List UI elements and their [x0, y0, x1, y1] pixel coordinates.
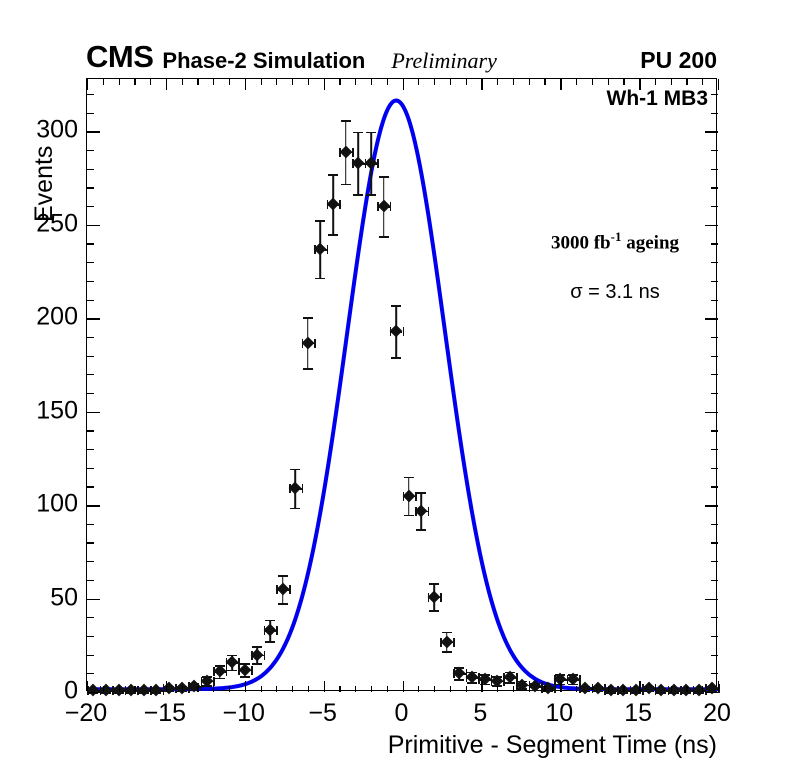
x-major-tick-top — [481, 79, 482, 90]
error-bar-horizontal — [529, 686, 542, 688]
x-minor-tick — [513, 686, 514, 692]
error-bar-horizontal — [377, 206, 390, 208]
error-bar-horizontal — [604, 690, 617, 692]
x-major-tick-top — [324, 79, 325, 90]
error-bar-vertical — [383, 176, 385, 236]
data-marker — [112, 684, 125, 697]
error-bar-cap-horizontal — [630, 686, 632, 695]
data-marker — [125, 684, 138, 697]
x-minor-tick-top — [261, 79, 262, 85]
error-bar-cap — [631, 688, 641, 690]
error-bar-cap-horizontal — [137, 686, 139, 695]
error-bar-horizontal — [314, 249, 327, 251]
cms-status-text: Preliminary — [391, 49, 497, 72]
error-bar-cap — [315, 220, 325, 222]
error-bar-cap-horizontal — [503, 673, 505, 682]
y-minor-tick-right — [711, 430, 718, 431]
error-bar-cap — [555, 674, 565, 676]
error-bar-cap-horizontal — [440, 593, 442, 602]
error-bar-cap-horizontal — [314, 245, 316, 254]
x-minor-tick — [702, 686, 703, 692]
y-tick-label: 50 — [14, 583, 78, 612]
error-bar-cap-horizontal — [327, 200, 329, 209]
data-marker — [630, 684, 643, 697]
y-minor-tick-right — [711, 393, 718, 394]
error-bar-cap-horizontal — [693, 686, 695, 695]
data-marker — [554, 673, 567, 686]
error-bar-vertical — [421, 492, 423, 529]
x-minor-tick — [182, 686, 183, 692]
error-bar-horizontal — [693, 690, 706, 692]
error-bar-horizontal — [491, 681, 504, 683]
error-bar-cap-horizontal — [377, 159, 379, 168]
x-minor-tick-top — [119, 79, 120, 85]
error-bar-cap-horizontal — [365, 159, 367, 168]
error-bar-vertical — [534, 683, 536, 689]
error-bar-cap-horizontal — [100, 686, 102, 695]
error-bar-cap — [681, 692, 691, 694]
error-bar-horizontal — [327, 204, 340, 206]
error-bar-horizontal — [503, 677, 516, 679]
error-bar-cap-horizontal — [238, 666, 240, 675]
error-bar-vertical — [408, 477, 410, 515]
y-minor-tick — [87, 542, 94, 543]
fit-curve-layer — [87, 79, 718, 692]
y-major-tick-right — [705, 225, 718, 226]
error-bar-cap-horizontal — [567, 675, 569, 684]
error-bar-cap — [593, 686, 603, 688]
x-minor-tick — [276, 686, 277, 692]
error-bar-cap-horizontal — [163, 686, 165, 695]
data-marker — [693, 684, 706, 697]
y-minor-tick — [87, 655, 94, 656]
error-bar-cap-horizontal — [693, 686, 695, 695]
y-major-tick — [87, 225, 100, 226]
error-bar-cap-horizontal — [289, 585, 291, 594]
error-bar-cap-horizontal — [264, 651, 266, 660]
error-bar-cap — [177, 686, 187, 688]
y-major-tick — [87, 131, 100, 132]
error-bar-cap-horizontal — [125, 686, 127, 695]
x-tick-label: −15 — [144, 699, 186, 728]
error-bar-cap-horizontal — [592, 684, 594, 693]
error-bar-vertical — [496, 676, 498, 685]
error-bar-cap-horizontal — [125, 686, 127, 695]
error-bar-cap-horizontal — [302, 484, 304, 493]
y-minor-tick — [87, 617, 94, 618]
error-bar-cap — [492, 676, 502, 678]
data-marker — [264, 624, 277, 637]
y-axis-title: Events — [30, 146, 59, 222]
error-bar-cap-horizontal — [428, 507, 430, 516]
error-bar-cap-horizontal — [617, 686, 619, 695]
error-bar-cap — [151, 692, 161, 694]
error-bar-cap — [505, 682, 515, 684]
y-minor-tick — [87, 430, 94, 431]
x-tick-label: 0 — [395, 699, 409, 728]
error-bar-vertical — [118, 688, 120, 692]
y-minor-tick-right — [711, 356, 718, 357]
error-bar-cap-horizontal — [390, 202, 392, 211]
error-bar-cap-horizontal — [428, 593, 430, 602]
error-bar-cap — [126, 688, 136, 690]
x-minor-tick-top — [655, 79, 656, 85]
x-major-tick — [481, 681, 482, 692]
error-bar-vertical — [509, 672, 511, 682]
x-tick-label: 10 — [545, 699, 573, 728]
error-bar-vertical — [193, 683, 195, 689]
error-bar-cap — [681, 688, 691, 690]
error-bar-horizontal — [390, 331, 403, 333]
y-minor-tick — [87, 187, 94, 188]
y-major-tick — [87, 599, 100, 600]
cms-subtitle-text: Phase-2 Simulation — [162, 49, 365, 72]
error-bar-vertical — [458, 667, 460, 679]
cms-header: CMS Phase-2 Simulation Preliminary PU 20… — [86, 38, 717, 72]
x-minor-tick-top — [418, 79, 419, 85]
data-marker — [201, 674, 214, 687]
error-bar-cap — [656, 688, 666, 690]
x-minor-tick-top — [702, 79, 703, 85]
error-bar-cap — [341, 120, 351, 122]
error-bar-cap-horizontal — [175, 684, 177, 693]
error-bar-cap-horizontal — [390, 327, 392, 336]
error-bar-cap — [505, 672, 515, 674]
data-marker — [163, 682, 176, 695]
error-bar-horizontal — [541, 688, 554, 690]
error-bar-vertical — [635, 688, 637, 692]
x-major-tick — [403, 681, 404, 692]
error-bar-vertical — [547, 686, 549, 691]
data-marker — [604, 684, 617, 697]
error-bar-cap-horizontal — [251, 651, 253, 660]
data-marker — [529, 680, 542, 693]
error-bar-cap-horizontal — [516, 673, 518, 682]
y-minor-tick-right — [711, 580, 718, 581]
error-bar-cap-horizontal — [276, 585, 278, 594]
error-bar-cap-horizontal — [339, 148, 341, 157]
error-bar-vertical — [257, 646, 259, 663]
error-bar-cap-horizontal — [289, 484, 291, 493]
x-minor-tick — [529, 686, 530, 692]
x-minor-tick-top — [497, 79, 498, 85]
error-bar-cap-horizontal — [554, 684, 556, 693]
y-tick-label: 100 — [14, 490, 78, 519]
data-marker — [377, 200, 390, 213]
error-bar-vertical — [168, 686, 170, 691]
x-major-tick-top — [166, 79, 167, 90]
error-bar-cap — [139, 692, 149, 694]
error-bar-cap — [101, 688, 111, 690]
y-minor-tick-right — [711, 449, 718, 450]
x-major-tick — [718, 681, 719, 692]
error-bar-cap-horizontal — [516, 681, 518, 690]
error-bar-cap — [530, 683, 540, 685]
error-bar-cap — [467, 672, 477, 674]
x-minor-tick — [134, 686, 135, 692]
error-bar-cap — [290, 469, 300, 471]
error-bar-cap-horizontal — [453, 638, 455, 647]
error-bar-cap — [114, 688, 124, 690]
x-minor-tick — [103, 686, 104, 692]
x-minor-tick — [544, 686, 545, 692]
y-minor-tick — [87, 524, 94, 525]
x-minor-tick-top — [466, 79, 467, 85]
error-bar-cap — [227, 655, 237, 657]
x-minor-tick — [434, 686, 435, 692]
error-bar-cap-horizontal — [668, 686, 670, 695]
y-major-tick — [87, 318, 100, 319]
y-minor-tick — [87, 281, 94, 282]
x-minor-tick-top — [229, 79, 230, 85]
error-bar-cap — [707, 686, 717, 688]
y-minor-tick-right — [711, 655, 718, 656]
error-bar-cap — [366, 194, 376, 196]
y-tick-label: 150 — [14, 396, 78, 425]
error-bar-cap-horizontal — [201, 682, 203, 691]
x-minor-tick — [686, 686, 687, 692]
x-minor-tick — [592, 686, 593, 692]
data-marker — [289, 482, 302, 495]
x-major-tick — [245, 681, 246, 692]
error-bar-cap-horizontal — [403, 327, 405, 336]
error-bar-cap-horizontal — [352, 159, 354, 168]
sigma-annotation: σ = 3.1 ns — [505, 281, 725, 304]
error-bar-cap — [88, 688, 98, 690]
y-major-tick — [87, 692, 100, 693]
error-bar-vertical — [332, 174, 334, 235]
x-major-tick — [639, 681, 640, 692]
x-major-tick-top — [245, 79, 246, 90]
x-major-tick-top — [560, 79, 561, 90]
y-minor-tick — [87, 468, 94, 469]
y-major-tick-right — [705, 318, 718, 319]
x-minor-tick-top — [608, 79, 609, 85]
error-bar-vertical — [370, 132, 372, 195]
y-minor-tick-right — [711, 524, 718, 525]
data-marker — [150, 684, 163, 697]
error-bar-cap-horizontal — [579, 675, 581, 684]
y-minor-tick — [87, 113, 94, 114]
error-bar-cap — [517, 681, 527, 683]
error-bar-cap — [492, 685, 502, 687]
x-minor-tick-top — [308, 79, 309, 85]
error-bar-cap — [467, 682, 477, 684]
x-minor-tick — [119, 686, 120, 692]
x-minor-tick-top — [671, 79, 672, 85]
error-bar-horizontal — [112, 690, 125, 692]
luminosity-exponent: -1 — [611, 229, 622, 244]
data-marker — [516, 678, 529, 691]
error-bar-cap — [391, 305, 401, 307]
error-bar-cap — [303, 368, 313, 370]
error-bar-cap-horizontal — [403, 492, 405, 501]
error-bar-cap-horizontal — [680, 686, 682, 695]
error-bar-cap — [543, 686, 553, 688]
x-major-tick — [166, 681, 167, 692]
data-marker — [175, 682, 188, 695]
error-bar-cap — [202, 685, 212, 687]
y-minor-tick — [87, 150, 94, 151]
x-minor-tick-top — [276, 79, 277, 85]
error-bar-horizontal — [642, 688, 655, 690]
y-minor-tick — [87, 300, 94, 301]
error-bar-cap — [454, 667, 464, 669]
y-minor-tick-right — [711, 169, 718, 170]
x-tick-label: 15 — [624, 699, 652, 728]
error-bar-cap-horizontal — [163, 684, 165, 693]
error-bar-vertical — [345, 120, 347, 184]
error-bar-cap-horizontal — [339, 200, 341, 209]
error-bar-cap — [568, 674, 578, 676]
error-bar-cap-horizontal — [529, 681, 531, 690]
error-bar-vertical — [711, 686, 713, 691]
error-bar-cap-horizontal — [453, 669, 455, 678]
data-marker — [579, 682, 592, 695]
error-bar-horizontal — [137, 690, 150, 692]
error-bar-cap-horizontal — [466, 673, 468, 682]
error-bar-vertical — [105, 688, 107, 692]
error-bar-vertical — [156, 688, 158, 692]
error-bar-horizontal — [668, 690, 681, 692]
data-marker — [655, 684, 668, 697]
y-minor-tick — [87, 262, 94, 263]
gaussian-fit-curve — [87, 101, 718, 690]
x-major-tick-top — [403, 79, 404, 90]
error-bar-cap — [126, 692, 136, 694]
error-bar-cap — [252, 646, 262, 648]
y-minor-tick-right — [711, 206, 718, 207]
error-bar-cap-horizontal — [415, 492, 417, 501]
y-minor-tick — [87, 169, 94, 170]
chamber-label: Wh-1 MB3 — [607, 87, 709, 111]
error-bar-horizontal — [352, 163, 365, 165]
error-bar-cap-horizontal — [655, 684, 657, 693]
error-bar-cap — [177, 691, 187, 693]
error-bar-cap — [139, 688, 149, 690]
data-marker — [440, 635, 453, 648]
error-bar-vertical — [673, 688, 675, 692]
error-bar-cap-horizontal — [541, 682, 543, 691]
y-tick-label: 0 — [14, 677, 78, 706]
error-bar-cap — [429, 583, 439, 585]
error-bar-vertical — [143, 688, 145, 692]
y-minor-tick — [87, 580, 94, 581]
y-minor-tick — [87, 636, 94, 637]
error-bar-cap-horizontal — [175, 684, 177, 693]
data-marker — [87, 684, 100, 697]
x-minor-tick-top — [544, 79, 545, 85]
error-bar-cap-horizontal — [705, 686, 707, 695]
error-bar-cap — [328, 174, 338, 176]
error-bar-horizontal — [339, 152, 352, 154]
error-bar-cap-horizontal — [604, 686, 606, 695]
y-minor-tick-right — [711, 468, 718, 469]
x-minor-tick-top — [103, 79, 104, 85]
x-minor-tick — [576, 686, 577, 692]
error-bar-cap — [278, 575, 288, 577]
y-major-tick-right — [705, 599, 718, 600]
error-bar-cap-horizontal — [188, 684, 190, 693]
error-bar-cap — [240, 663, 250, 665]
error-bar-vertical — [395, 305, 397, 357]
error-bar-horizontal — [554, 679, 567, 681]
error-bar-cap-horizontal — [150, 686, 152, 695]
error-bar-cap — [341, 184, 351, 186]
x-minor-tick-top — [450, 79, 451, 85]
error-bar-vertical — [446, 632, 448, 651]
data-marker — [314, 243, 327, 256]
error-bar-horizontal — [251, 655, 264, 657]
error-bar-cap — [707, 691, 717, 693]
error-bar-cap-horizontal — [630, 686, 632, 695]
data-marker — [251, 648, 264, 661]
error-bar-cap-horizontal — [201, 677, 203, 686]
error-bar-horizontal — [403, 496, 416, 498]
x-minor-tick — [213, 686, 214, 692]
y-minor-tick — [87, 673, 94, 674]
error-bar-horizontal — [453, 673, 466, 675]
data-marker — [100, 684, 113, 697]
y-tick-label: 300 — [14, 116, 78, 145]
y-minor-tick — [87, 486, 94, 487]
error-bar-cap — [353, 194, 363, 196]
error-bar-cap — [631, 692, 641, 694]
error-bar-cap-horizontal — [567, 675, 569, 684]
error-bar-vertical — [585, 686, 587, 691]
y-minor-tick — [87, 449, 94, 450]
error-bar-cap-horizontal — [238, 658, 240, 667]
error-bar-vertical — [181, 686, 183, 691]
error-bar-cap-horizontal — [604, 684, 606, 693]
error-bar-cap-horizontal — [491, 677, 493, 686]
error-bar-cap — [669, 692, 679, 694]
error-bar-cap — [669, 688, 679, 690]
error-bar-horizontal — [365, 163, 378, 165]
y-minor-tick — [87, 337, 94, 338]
y-minor-tick — [87, 356, 94, 357]
error-bar-cap-horizontal — [503, 677, 505, 686]
error-bar-cap-horizontal — [579, 684, 581, 693]
error-bar-horizontal — [428, 597, 441, 599]
error-bar-cap — [278, 603, 288, 605]
y-minor-tick-right — [711, 561, 718, 562]
error-bar-cap-horizontal — [137, 686, 139, 695]
error-bar-cap — [252, 663, 262, 665]
error-bar-horizontal — [592, 688, 605, 690]
error-bar-cap — [555, 684, 565, 686]
error-bar-cap — [189, 690, 199, 692]
error-bar-horizontal — [100, 690, 113, 692]
error-bar-horizontal — [175, 688, 188, 690]
error-bar-horizontal — [289, 488, 302, 490]
x-major-tick — [324, 681, 325, 692]
error-bar-horizontal — [415, 511, 428, 513]
error-bar-cap-horizontal — [642, 684, 644, 693]
error-bar-cap — [164, 691, 174, 693]
data-marker — [491, 674, 504, 687]
error-bar-cap-horizontal — [314, 339, 316, 348]
error-bar-cap-horizontal — [226, 667, 228, 676]
error-bar-cap — [353, 132, 363, 134]
error-bar-vertical — [484, 674, 486, 684]
error-bar-vertical — [282, 575, 284, 603]
x-axis-title: Primitive - Segment Time (ns) — [0, 731, 717, 760]
x-minor-tick — [197, 686, 198, 692]
error-bar-vertical — [307, 317, 309, 368]
error-bar-vertical — [698, 688, 700, 692]
error-bar-cap-horizontal — [554, 675, 556, 684]
